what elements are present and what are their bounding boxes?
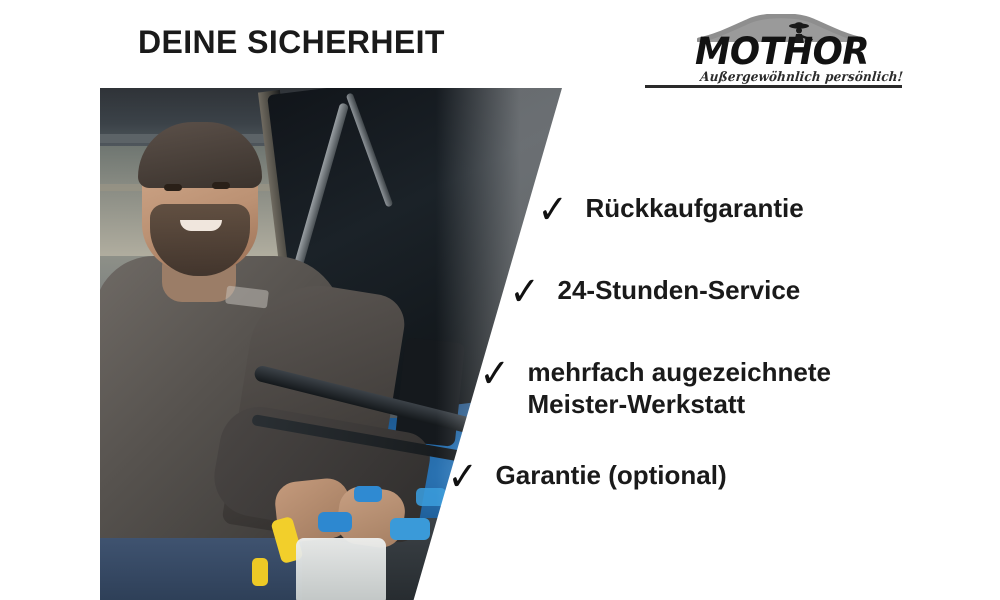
check-icon: ✓ bbox=[448, 457, 478, 497]
photo-blue-clip-secondary bbox=[416, 488, 446, 506]
benefit-label: Rückkaufgarantie bbox=[586, 190, 804, 225]
benefit-item-rueckkaufgarantie[interactable]: ✓ Rückkaufgarantie bbox=[536, 190, 804, 230]
photo-blue-clip-primary bbox=[390, 518, 430, 540]
photo-hood-hinge bbox=[395, 337, 466, 447]
benefit-item-meister-werkstatt[interactable]: ✓ mehrfach augezeichnete Meister-Werksta… bbox=[478, 354, 831, 420]
photo-person-jeans bbox=[100, 538, 302, 600]
benefit-label: Garantie (optional) bbox=[496, 457, 727, 492]
benefit-item-24-stunden-service[interactable]: ✓ 24-Stunden-Service bbox=[508, 272, 800, 312]
brand-logo: MOTHOR Außergewöhnlich persönlich! bbox=[645, 14, 903, 92]
benefit-item-garantie-optional[interactable]: ✓ Garantie (optional) bbox=[446, 457, 727, 497]
logo-wordmark: MOTHOR bbox=[695, 30, 869, 73]
page-title: DEINE SICHERHEIT bbox=[138, 24, 445, 61]
logo-tagline: Außergewöhnlich persönlich! bbox=[700, 70, 904, 85]
photo-person-smile bbox=[180, 220, 222, 231]
check-icon: ✓ bbox=[480, 354, 510, 394]
photo-washer-reservoir bbox=[296, 538, 386, 600]
benefit-label: mehrfach augezeichnete Meister-Werkstatt bbox=[528, 354, 831, 420]
logo-divider-rule bbox=[645, 85, 902, 88]
photo-person-eye-left bbox=[164, 184, 182, 191]
photo-blue-cap-secondary bbox=[354, 486, 382, 502]
photo-person-eye-right bbox=[212, 182, 230, 189]
check-icon: ✓ bbox=[510, 272, 540, 312]
photo-engine-yellow-cap bbox=[252, 558, 268, 586]
benefit-label: 24-Stunden-Service bbox=[558, 272, 801, 307]
workshop-photo bbox=[100, 88, 660, 600]
check-icon: ✓ bbox=[538, 190, 568, 230]
photo-blue-cap-primary bbox=[318, 512, 352, 532]
slide-canvas: DEINE SICHERHEIT MOTHOR Außergewöhnlich … bbox=[0, 0, 1000, 600]
